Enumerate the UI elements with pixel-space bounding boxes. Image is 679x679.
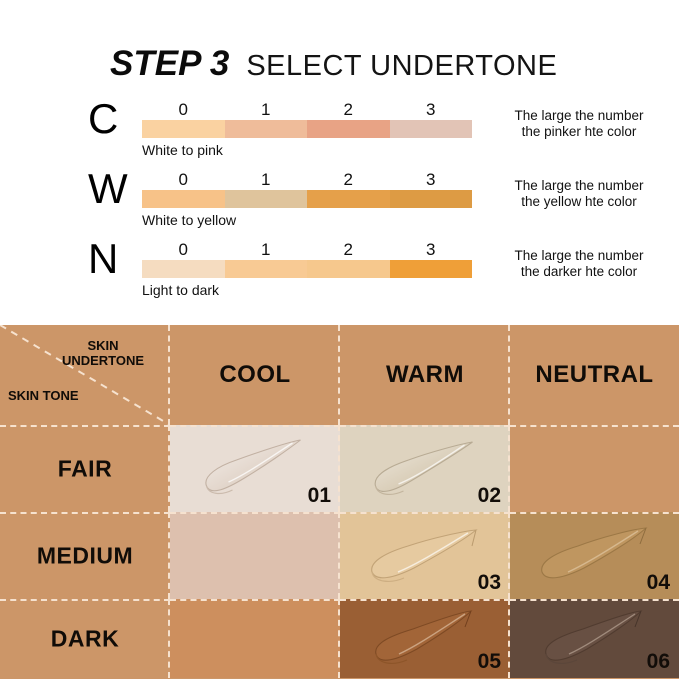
matrix-row-dark: DARK 05 06 bbox=[0, 599, 679, 678]
scale-tick-c-3: 3 bbox=[426, 100, 435, 120]
scale-tick-n-3: 3 bbox=[426, 240, 435, 260]
shade-matrix: SKIN UNDERTONE SKIN TONE COOL WARM NEUTR… bbox=[0, 325, 679, 679]
column-header-label-neutral: NEUTRAL bbox=[510, 361, 679, 389]
undertone-letter-w: W bbox=[88, 168, 128, 210]
scale-tick-w-1: 1 bbox=[261, 170, 270, 190]
scale-tick-labels-neutral: 0 1 2 3 bbox=[142, 240, 472, 260]
corner-undertone-line2: UNDERTONE bbox=[48, 354, 158, 369]
shade-number-06: 06 bbox=[647, 650, 670, 674]
undertone-row-warm: W 0 1 2 3 White to yellow The large the … bbox=[0, 170, 679, 240]
undertone-note-neutral-line1: The large the number bbox=[484, 248, 674, 264]
scale-swatch-c-0 bbox=[142, 120, 225, 138]
shade-cell-06[interactable]: 06 bbox=[510, 599, 679, 678]
row-header-fair[interactable]: FAIR bbox=[0, 425, 170, 512]
scale-caption-neutral: Light to dark bbox=[142, 282, 472, 298]
row-header-dark[interactable]: DARK bbox=[0, 599, 170, 678]
undertone-letter-n: N bbox=[88, 238, 118, 280]
corner-undertone-label: SKIN UNDERTONE bbox=[48, 339, 158, 369]
matrix-row-medium: MEDIUM 03 bbox=[0, 512, 679, 599]
scale-tick-n-2: 2 bbox=[344, 240, 353, 260]
scale-swatch-c-2 bbox=[307, 120, 390, 138]
foundation-smear-icon bbox=[535, 605, 655, 673]
scale-swatch-w-1 bbox=[225, 190, 308, 208]
scale-tick-c-1: 1 bbox=[261, 100, 270, 120]
undertone-scale-cool: 0 1 2 3 White to pink bbox=[142, 100, 472, 158]
scale-caption-cool: White to pink bbox=[142, 142, 472, 158]
undertone-note-cool: The large the number the pinker hte colo… bbox=[484, 108, 674, 141]
foundation-smear-icon bbox=[530, 520, 660, 592]
scale-tick-c-2: 2 bbox=[344, 100, 353, 120]
column-header-label-warm: WARM bbox=[340, 361, 510, 389]
row-header-label-medium: MEDIUM bbox=[0, 542, 170, 569]
undertone-scale-neutral: 0 1 2 3 Light to dark bbox=[142, 240, 472, 298]
matrix-row-fair: FAIR 01 bbox=[0, 425, 679, 512]
scale-tick-labels-cool: 0 1 2 3 bbox=[142, 100, 472, 120]
scale-swatch-n-2 bbox=[307, 260, 390, 278]
shade-cell-04[interactable]: 04 bbox=[510, 512, 679, 599]
scale-bar-neutral bbox=[142, 260, 472, 278]
scale-tick-w-2: 2 bbox=[344, 170, 353, 190]
page-title: STEP 3 SELECT UNDERTONE bbox=[110, 46, 557, 81]
shade-cell-05[interactable]: 05 bbox=[340, 599, 510, 678]
scale-bar-cool bbox=[142, 120, 472, 138]
scale-swatch-n-3 bbox=[390, 260, 473, 278]
foundation-smear-icon bbox=[365, 605, 485, 673]
scale-swatch-w-0 bbox=[142, 190, 225, 208]
scale-tick-n-0: 0 bbox=[179, 240, 188, 260]
shade-cell-02[interactable]: 02 bbox=[340, 425, 510, 512]
corner-skintone-label: SKIN TONE bbox=[8, 388, 79, 403]
scale-swatch-w-3 bbox=[390, 190, 473, 208]
scale-tick-c-0: 0 bbox=[179, 100, 188, 120]
undertone-note-neutral-line2: the darker hte color bbox=[484, 264, 674, 280]
scale-swatch-w-2 bbox=[307, 190, 390, 208]
shade-number-04: 04 bbox=[647, 571, 670, 595]
undertone-row-cool: C 0 1 2 3 White to pink The large the nu… bbox=[0, 100, 679, 170]
shade-number-05: 05 bbox=[478, 650, 501, 674]
matrix-header-row: SKIN UNDERTONE SKIN TONE COOL WARM NEUTR… bbox=[0, 325, 679, 425]
row-header-label-dark: DARK bbox=[0, 625, 170, 652]
matrix-column-header-neutral[interactable]: NEUTRAL bbox=[510, 325, 679, 425]
scale-swatch-c-3 bbox=[390, 120, 473, 138]
corner-undertone-line1: SKIN bbox=[48, 339, 158, 354]
matrix-column-header-cool[interactable]: COOL bbox=[170, 325, 340, 425]
page-title-text: SELECT UNDERTONE bbox=[246, 52, 557, 81]
scale-swatch-n-0 bbox=[142, 260, 225, 278]
foundation-smear-icon bbox=[193, 434, 318, 504]
undertone-row-neutral: N 0 1 2 3 Light to dark The large the nu… bbox=[0, 240, 679, 310]
scale-tick-w-0: 0 bbox=[179, 170, 188, 190]
undertone-note-warm: The large the number the yellow hte colo… bbox=[484, 178, 674, 211]
scale-caption-warm: White to yellow bbox=[142, 212, 472, 228]
undertone-note-warm-line2: the yellow hte color bbox=[484, 194, 674, 210]
undertone-note-cool-line2: the pinker hte color bbox=[484, 124, 674, 140]
matrix-column-header-warm[interactable]: WARM bbox=[340, 325, 510, 425]
scale-swatch-c-1 bbox=[225, 120, 308, 138]
undertone-letter-c: C bbox=[88, 98, 118, 140]
step-label: STEP 3 bbox=[110, 46, 229, 81]
undertone-guide-section: STEP 3 SELECT UNDERTONE C 0 1 2 3 White … bbox=[0, 0, 679, 325]
scale-tick-labels-warm: 0 1 2 3 bbox=[142, 170, 472, 190]
undertone-note-warm-line1: The large the number bbox=[484, 178, 674, 194]
undertone-note-cool-line1: The large the number bbox=[484, 108, 674, 124]
shade-cell-01[interactable]: 01 bbox=[170, 425, 340, 512]
shade-cell-medium-cool-empty[interactable] bbox=[170, 512, 340, 599]
shade-cell-03[interactable]: 03 bbox=[340, 512, 510, 599]
foundation-smear-icon bbox=[363, 434, 488, 504]
shade-number-01: 01 bbox=[308, 484, 331, 508]
scale-swatch-n-1 bbox=[225, 260, 308, 278]
shade-number-03: 03 bbox=[478, 571, 501, 595]
shade-number-02: 02 bbox=[478, 484, 501, 508]
scale-tick-w-3: 3 bbox=[426, 170, 435, 190]
undertone-note-neutral: The large the number the darker hte colo… bbox=[484, 248, 674, 281]
column-header-label-cool: COOL bbox=[170, 361, 340, 389]
shade-cell-fair-neutral-empty[interactable] bbox=[510, 425, 679, 512]
row-header-medium[interactable]: MEDIUM bbox=[0, 512, 170, 599]
scale-bar-warm bbox=[142, 190, 472, 208]
foundation-smear-icon bbox=[360, 520, 490, 592]
row-header-label-fair: FAIR bbox=[0, 455, 170, 482]
shade-cell-dark-cool-empty[interactable] bbox=[170, 599, 340, 678]
matrix-corner-cell: SKIN UNDERTONE SKIN TONE bbox=[0, 325, 170, 425]
scale-tick-n-1: 1 bbox=[261, 240, 270, 260]
undertone-scale-warm: 0 1 2 3 White to yellow bbox=[142, 170, 472, 228]
